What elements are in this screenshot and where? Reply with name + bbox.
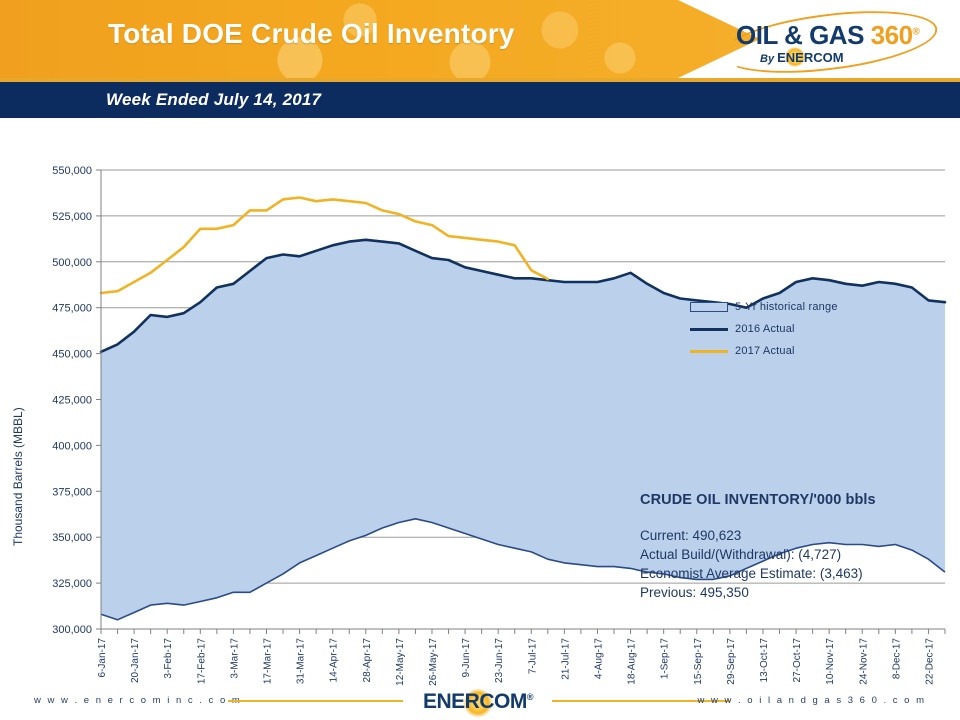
x-tick-label: 17-Mar-17 bbox=[262, 638, 273, 685]
x-tick-label: 27-Oct-17 bbox=[792, 638, 803, 683]
chart-container: 300,000325,000350,000375,000400,000425,0… bbox=[0, 126, 960, 686]
logo-360-text: 360 bbox=[871, 20, 913, 50]
y-tick-label: 525,000 bbox=[52, 211, 92, 223]
x-axis-group: 6-Jan-1720-Jan-173-Feb-1717-Feb-173-Mar-… bbox=[97, 629, 945, 686]
inventory-chart: 300,000325,000350,000375,000400,000425,0… bbox=[0, 126, 960, 686]
x-tick-label: 18-Aug-17 bbox=[627, 638, 638, 685]
x-tick-label: 23-Jun-17 bbox=[494, 638, 505, 683]
legend-item-range[interactable]: 5-Yr historical range bbox=[690, 296, 875, 318]
y-tick-label: 400,000 bbox=[52, 440, 92, 452]
logo-wordmark: OIL & GAS 360® bbox=[736, 20, 919, 51]
x-tick-label: 20-Jan-17 bbox=[130, 638, 141, 683]
footer-bar: w w w . e n e r c o m i n c . c o m ENER… bbox=[0, 686, 960, 720]
x-tick-label: 3-Mar-17 bbox=[229, 638, 240, 679]
x-tick-label: 29-Sep-17 bbox=[726, 638, 737, 685]
y-axis-title: Thousand Barrels (MBBL) bbox=[11, 407, 25, 546]
summary-estimate: Economist Average Estimate: (3,463) bbox=[640, 564, 930, 583]
legend-label-2016: 2016 Actual bbox=[735, 323, 795, 335]
x-tick-label: 10-Nov-17 bbox=[825, 638, 836, 685]
x-tick-label: 22-Dec-17 bbox=[924, 638, 935, 685]
footer-link-enercominc[interactable]: w w w . e n e r c o m i n c . c o m bbox=[34, 695, 242, 706]
x-tick-label: 4-Aug-17 bbox=[593, 638, 604, 680]
inventory-summary-box: CRUDE OIL INVENTORY/'000 bbls Current: 4… bbox=[640, 492, 930, 602]
summary-current: Current: 490,623 bbox=[640, 526, 930, 545]
x-tick-label: 14-Apr-17 bbox=[329, 638, 340, 683]
y-tick-label: 475,000 bbox=[52, 303, 92, 315]
y-tick-label: 300,000 bbox=[52, 624, 92, 636]
x-tick-label: 28-Apr-17 bbox=[362, 638, 373, 683]
x-tick-label: 26-May-17 bbox=[428, 638, 439, 686]
y-tick-label: 500,000 bbox=[52, 257, 92, 269]
legend-item-2017[interactable]: 2017 Actual bbox=[690, 340, 875, 362]
x-tick-label: 7-Jul-17 bbox=[527, 638, 538, 675]
slide-root: Total DOE Crude Oil Inventory OIL & GAS … bbox=[0, 0, 960, 720]
y-tick-label: 550,000 bbox=[52, 165, 92, 177]
legend-item-2016[interactable]: 2016 Actual bbox=[690, 318, 875, 340]
x-tick-label: 1-Sep-17 bbox=[660, 638, 671, 680]
x-tick-label: 8-Dec-17 bbox=[891, 638, 902, 680]
x-tick-label: 31-Mar-17 bbox=[296, 638, 307, 685]
logo-byline: By ENERCOM bbox=[760, 50, 844, 65]
x-tick-label: 15-Sep-17 bbox=[693, 638, 704, 685]
x-tick-label: 24-Nov-17 bbox=[858, 638, 869, 685]
page-title: Total DOE Crude Oil Inventory bbox=[108, 18, 515, 50]
x-tick-label: 6-Jan-17 bbox=[97, 638, 108, 678]
footer-rule-left bbox=[228, 700, 403, 702]
logo-oilandgas-text: OIL & GAS bbox=[736, 20, 871, 50]
logo-enercom-text: ENERCOM bbox=[777, 50, 843, 65]
oilandgas360-logo[interactable]: OIL & GAS 360® By ENERCOM bbox=[718, 6, 942, 76]
x-tick-label: 3-Feb-17 bbox=[163, 638, 174, 679]
x-tick-label: 21-Jul-17 bbox=[560, 638, 571, 680]
x-tick-label: 13-Oct-17 bbox=[759, 638, 770, 683]
summary-title: CRUDE OIL INVENTORY/'000 bbls bbox=[640, 492, 930, 508]
summary-previous: Previous: 495,350 bbox=[640, 583, 930, 602]
x-tick-label: 9-Jun-17 bbox=[461, 638, 472, 678]
y-tick-label: 425,000 bbox=[52, 395, 92, 407]
y-tick-label: 375,000 bbox=[52, 486, 92, 498]
y-tick-label: 450,000 bbox=[52, 349, 92, 361]
summary-build: Actual Build/(Withdrawal): (4,727) bbox=[640, 545, 930, 564]
footer-logo-text: ENERCOM bbox=[423, 690, 527, 713]
y-tick-label: 325,000 bbox=[52, 578, 92, 590]
logo-by-text: By bbox=[760, 53, 777, 65]
range-swatch-icon bbox=[690, 302, 728, 312]
registered-mark-icon: ® bbox=[913, 26, 920, 37]
x-tick-label: 17-Feb-17 bbox=[196, 638, 207, 685]
legend-label-2017: 2017 Actual bbox=[735, 345, 795, 357]
chart-legend: 5-Yr historical range 2016 Actual 2017 A… bbox=[690, 296, 875, 364]
footer-link-oilandgas360[interactable]: w w w . o i l a n d g a s 3 6 0 . c o m bbox=[698, 695, 926, 706]
footer-registered-mark-icon: ® bbox=[527, 692, 533, 702]
header-banner: Total DOE Crude Oil Inventory OIL & GAS … bbox=[0, 0, 960, 78]
footer-enercom-logo: ENERCOM® bbox=[410, 690, 546, 716]
line-2016-swatch-icon bbox=[690, 328, 728, 331]
x-tick-label: 12-May-17 bbox=[395, 638, 406, 686]
y-tick-label: 350,000 bbox=[52, 532, 92, 544]
line-2017-swatch-icon bbox=[690, 350, 728, 353]
legend-label-range: 5-Yr historical range bbox=[735, 301, 838, 313]
week-ended-subtitle: Week Ended July 14, 2017 bbox=[106, 90, 321, 110]
